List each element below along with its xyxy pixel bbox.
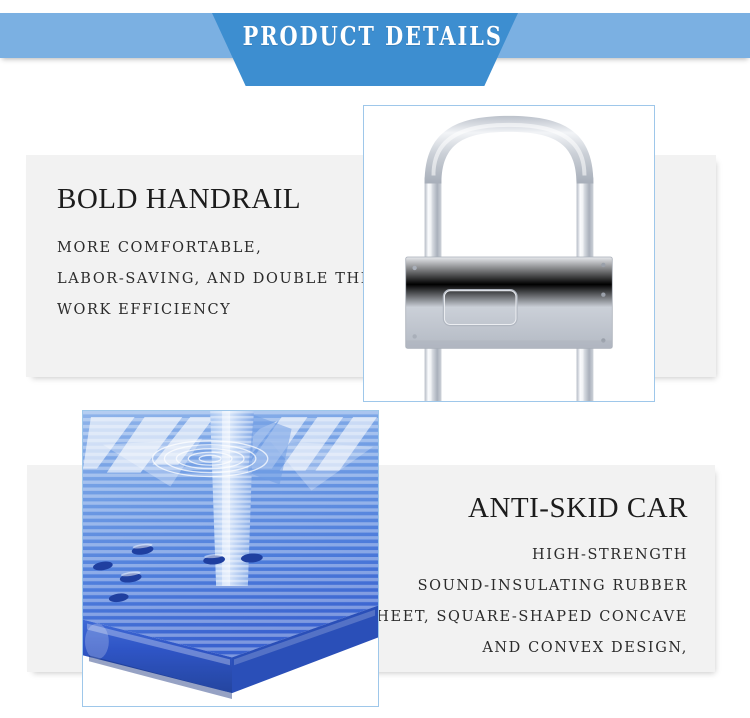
product-image-handrail: [363, 105, 655, 402]
section-heading-bold-handrail: BOLD HANDRAIL: [57, 183, 301, 216]
product-image-platform: [82, 410, 379, 707]
section-heading-anti-skid-car: ANTI-SKID CAR: [468, 492, 688, 525]
body-line: WORK EFFICIENCY: [57, 295, 387, 326]
body-line: LABOR-SAVING, AND DOUBLE THE: [57, 264, 387, 295]
product-details-page: PRODUCT DETAILS BOLD HANDRAIL MORE COMFO…: [0, 0, 750, 718]
section-body-bold-handrail: MORE COMFORTABLE, LABOR-SAVING, AND DOUB…: [57, 233, 387, 326]
body-line: MORE COMFORTABLE,: [57, 233, 387, 264]
handrail-photo: [364, 106, 654, 401]
platform-photo: [83, 411, 378, 706]
page-title: PRODUCT DETAILS: [243, 13, 488, 61]
